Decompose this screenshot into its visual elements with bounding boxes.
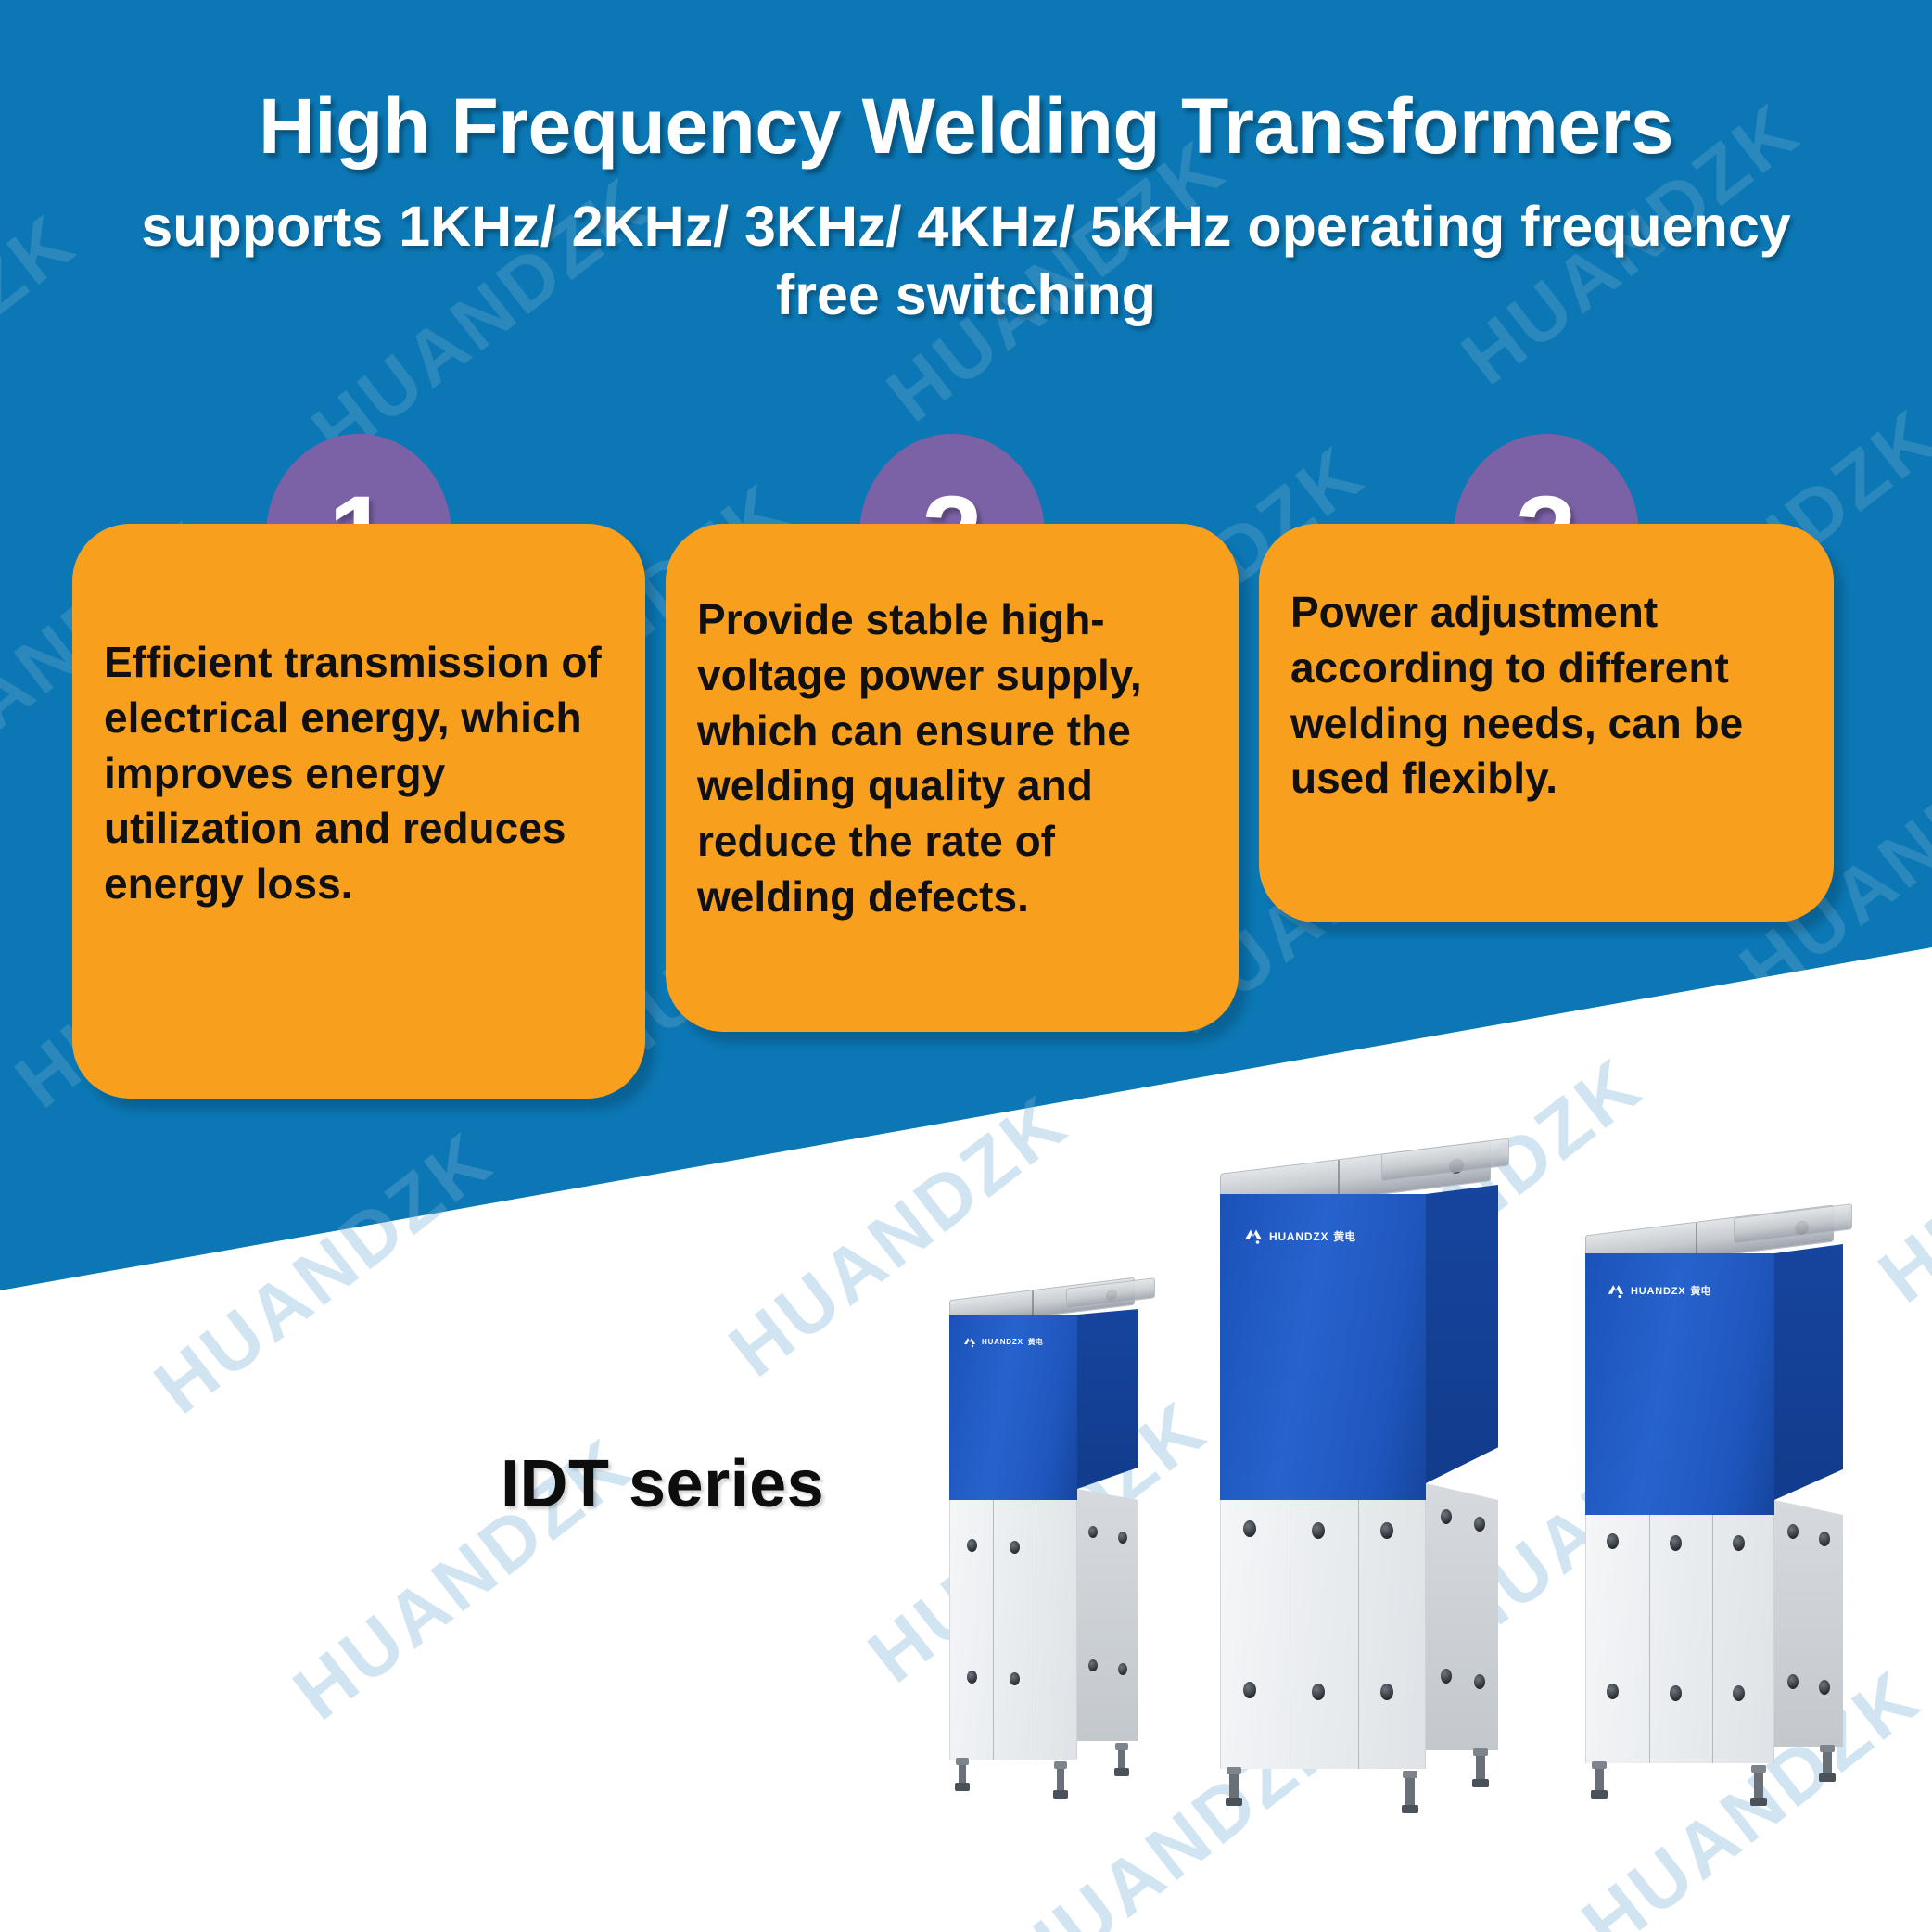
leveling-foot	[1405, 1771, 1415, 1813]
brand-text: HUANDZX	[1631, 1287, 1685, 1297]
product-unit-large: HUANDZX 黄电	[1196, 1140, 1530, 1808]
leveling-foot	[1476, 1748, 1485, 1787]
leveling-foot	[959, 1758, 966, 1791]
huandzx-logo-icon	[1242, 1226, 1265, 1248]
feature-card-3[interactable]: 3 Power adjustment according to differen…	[1259, 524, 1834, 922]
leveling-foot	[1754, 1765, 1763, 1806]
header-block: High Frequency Welding Transformers supp…	[0, 0, 1932, 330]
feature-card-body-1: Efficient transmission of electrical ene…	[72, 524, 645, 1099]
feature-card-body-2: Provide stable high-voltage power supply…	[666, 524, 1239, 1032]
brand-text: HUANDZX	[1269, 1231, 1328, 1242]
huandzx-logo-icon	[1606, 1281, 1626, 1302]
product-series-label: IDT series	[501, 1446, 824, 1522]
leveling-foot	[1823, 1745, 1832, 1782]
huandzx-logo-icon	[962, 1335, 977, 1350]
leveling-foot	[1229, 1767, 1239, 1806]
feature-card-body-3: Power adjustment according to different …	[1259, 524, 1834, 922]
cabinet-blue-side	[1774, 1244, 1843, 1500]
cabinet-blue-side	[1426, 1185, 1498, 1483]
cabinet-body-side	[1774, 1500, 1843, 1747]
leveling-foot	[1595, 1761, 1604, 1799]
feature-card-1[interactable]: 1 Efficient transmission of electrical e…	[72, 524, 645, 1099]
cabinet-body-side	[1077, 1489, 1138, 1741]
brand-logo-small: HUANDZX 黄电	[962, 1335, 1043, 1350]
cabinet-blue-side	[1077, 1309, 1138, 1489]
cabinet-body-front	[1585, 1515, 1774, 1763]
brand-logo-medium: HUANDZX 黄电	[1606, 1281, 1710, 1302]
brand-logo-large: HUANDZX 黄电	[1242, 1226, 1355, 1248]
poster-canvas: HUANDZX 黄电	[0, 0, 1932, 1932]
cabinet-body-front	[949, 1500, 1077, 1760]
brand-text: HUANDZX	[982, 1339, 1023, 1346]
leveling-foot	[1057, 1761, 1064, 1799]
feature-card-list: 1 Efficient transmission of electrical e…	[72, 524, 1871, 1099]
brand-cn-text: 黄电	[1333, 1231, 1355, 1242]
product-photo-group: HUANDZX 黄电	[927, 1140, 1932, 1808]
brand-cn-text: 黄电	[1690, 1287, 1710, 1297]
feature-card-2[interactable]: 2 Provide stable high-voltage power supp…	[666, 524, 1239, 1032]
page-subtitle: supports 1KHz/ 2KHz/ 3KHz/ 4KHz/ 5KHz op…	[0, 192, 1932, 330]
brand-cn-text: 黄电	[1028, 1339, 1043, 1346]
leveling-foot	[1118, 1743, 1125, 1776]
page-title: High Frequency Welding Transformers	[0, 85, 1932, 168]
product-unit-medium: HUANDZX 黄电	[1565, 1207, 1871, 1800]
product-unit-small: HUANDZX 黄电	[927, 1289, 1168, 1808]
cabinet-body-front	[1220, 1500, 1426, 1769]
cabinet-body-side	[1426, 1483, 1498, 1750]
